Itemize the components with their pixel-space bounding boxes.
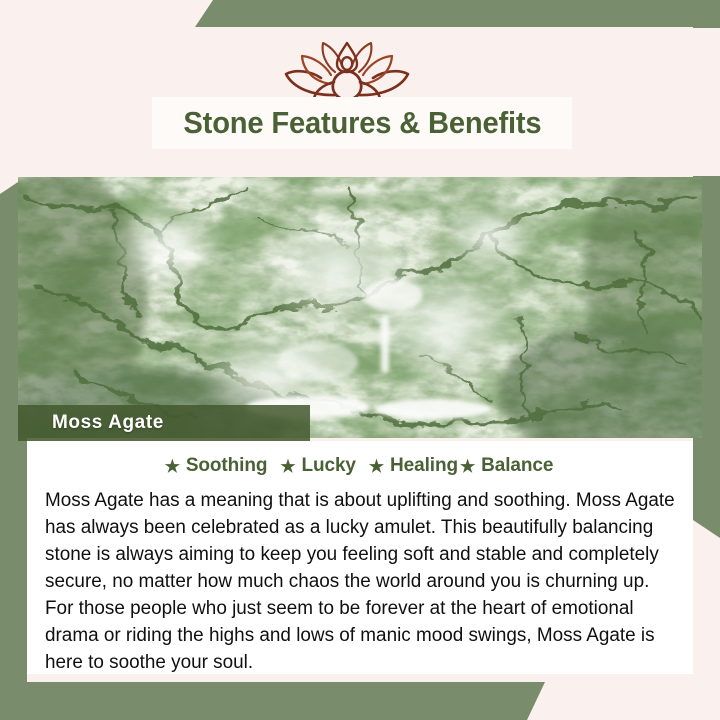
benefit-balance: Balance <box>479 455 555 477</box>
benefit-soothing: Soothing <box>184 455 270 477</box>
benefits-row: ★ Soothing ★ Lucky ★ Healing ★ Balance <box>45 455 675 477</box>
star-icon: ★ <box>280 458 295 475</box>
star-icon: ★ <box>165 458 180 475</box>
title-banner: Stone Features & Benefits <box>152 97 572 149</box>
stone-info-card: ★ Soothing ★ Lucky ★ Healing ★ Balance M… <box>27 441 693 674</box>
decor-top-green-band <box>195 0 720 27</box>
star-icon: ★ <box>460 458 475 475</box>
page-title: Stone Features & Benefits <box>183 105 541 141</box>
stone-name-label: Moss Agate <box>52 412 164 434</box>
moss-agate-photo <box>18 177 702 438</box>
benefit-lucky: Lucky <box>299 455 357 477</box>
star-icon: ★ <box>369 458 384 475</box>
decor-top-right-corner <box>693 0 720 28</box>
stone-name-badge: Moss Agate <box>18 405 310 441</box>
infographic-page: BUDDHA STONES Stone Features & Benefits <box>0 0 720 720</box>
benefit-healing: Healing <box>388 455 460 477</box>
stone-description: Moss Agate has a meaning that is about u… <box>45 487 675 676</box>
decor-bottom-green-band <box>0 682 545 720</box>
